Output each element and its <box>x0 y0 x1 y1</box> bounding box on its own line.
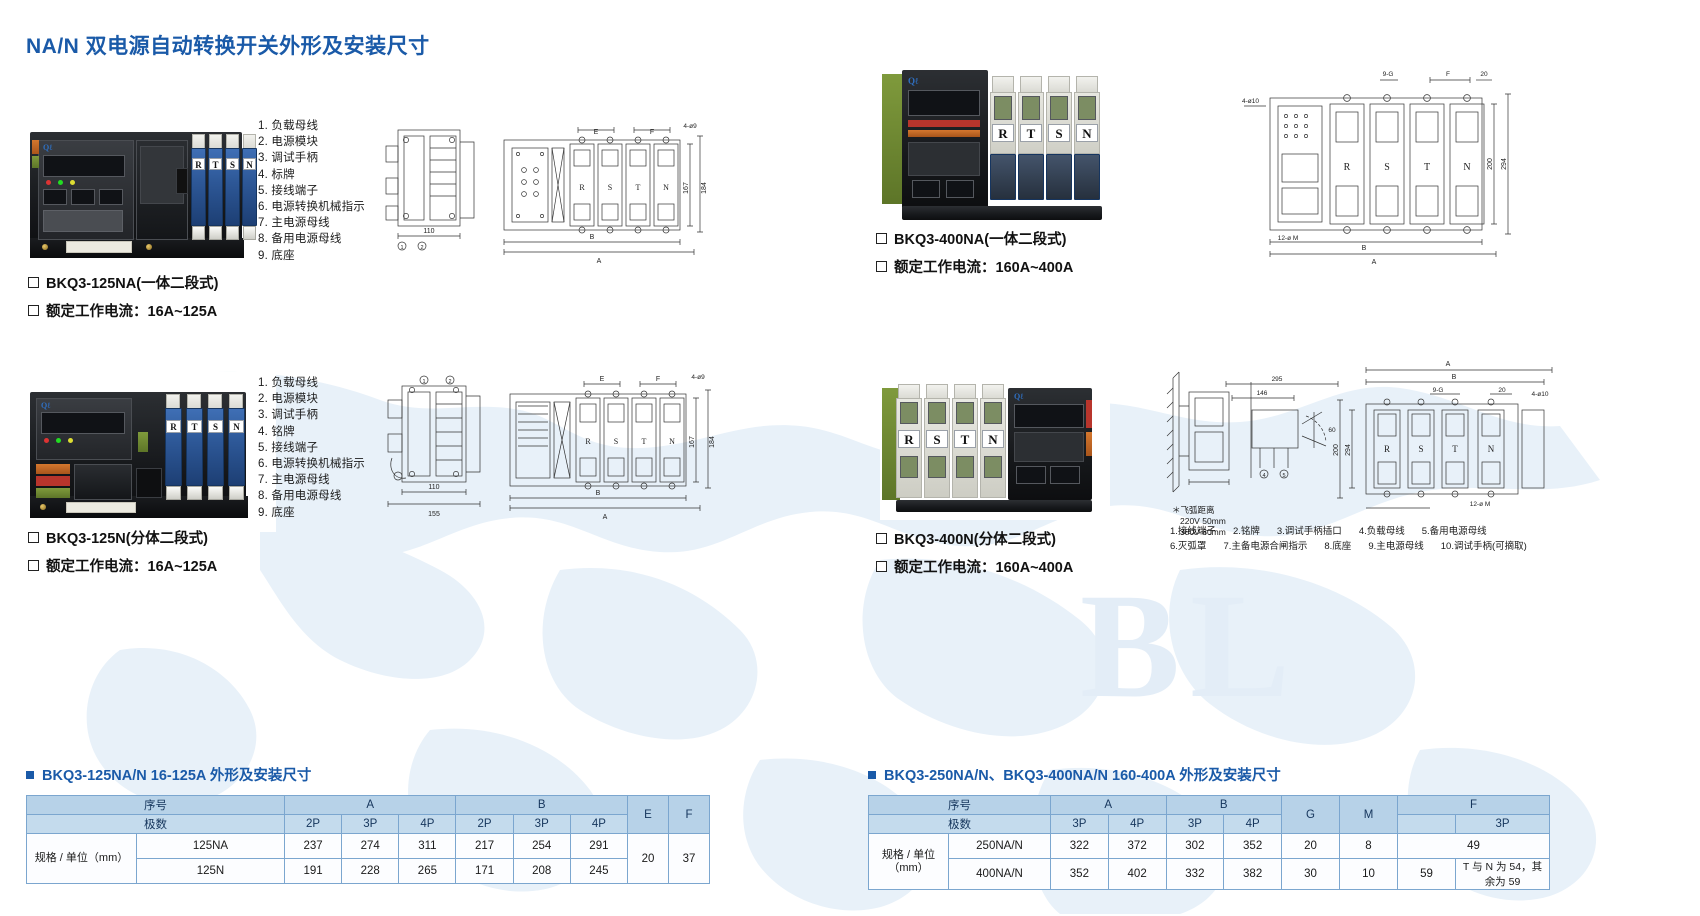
th-serial: 序号 <box>27 796 285 815</box>
cell-spec-label: 规格 / 单位 （mm） <box>869 834 949 890</box>
svg-text:4-ø9: 4-ø9 <box>683 123 697 130</box>
th-a-4p: 4P <box>1108 815 1166 834</box>
legend-item: 8. 备用电源母线 <box>258 231 365 247</box>
product-photo-bkq3-400na: Qℓ R T S N <box>880 60 1110 235</box>
cell-model: 125N <box>137 859 285 884</box>
legend-item: 3. 调试手柄 <box>258 407 365 423</box>
pole-label-t: T <box>1020 124 1042 142</box>
cell-f-4p: T 与 N 为 54，其余为 59 <box>1456 859 1550 890</box>
th-b-4p: 4P <box>570 815 627 834</box>
caption-current-text: 额定工作电流：16A~125A <box>46 555 217 576</box>
svg-text:2: 2 <box>448 379 451 385</box>
section-heading-table-250-400: BKQ3-250NA/N、BKQ3-400NA/N 160-400A 外形及安装… <box>868 764 1281 785</box>
th-f: F <box>669 796 710 834</box>
legend-item: 7. 主电源母线 <box>258 472 365 488</box>
th-f-4p: 3P <box>1456 815 1550 834</box>
cell-e-value: 20 <box>628 834 669 884</box>
caption-bkq3-125n: BKQ3-125N(分体二段式) 额定工作电流：16A~125A <box>28 527 217 583</box>
caption-model-text: BKQ3-125N(分体二段式) <box>46 527 208 548</box>
svg-text:294: 294 <box>1501 158 1508 170</box>
svg-text:20: 20 <box>1498 387 1506 394</box>
cell-f-merged: 49 <box>1398 834 1550 859</box>
th-g: G <box>1282 796 1340 834</box>
caption-bkq3-125na: BKQ3-125NA(一体二段式) 额定工作电流：16A~125A <box>28 272 218 328</box>
svg-text:295: 295 <box>1272 376 1283 383</box>
th-a: A <box>285 796 456 815</box>
legend-item: 9. 底座 <box>258 248 365 264</box>
checkbox-icon[interactable] <box>28 532 39 543</box>
th-poles: 极数 <box>27 815 285 834</box>
svg-text:9-G: 9-G <box>1383 71 1394 78</box>
svg-text:A: A <box>597 258 602 265</box>
svg-text:20: 20 <box>1480 71 1488 78</box>
svg-text:S: S <box>608 183 612 192</box>
svg-text:110: 110 <box>423 228 434 235</box>
pole-label-t: T <box>209 158 222 170</box>
pole-label-t: T <box>187 420 202 433</box>
svg-text:167: 167 <box>689 436 696 448</box>
svg-text:B: B <box>1452 374 1457 381</box>
pole-label-r: R <box>992 124 1014 142</box>
pole-label-t: T <box>954 430 976 448</box>
table-125na-n-dimensions: 序号 A B E F 极数 2P 3P 4P 2P 3P 4P 规格 / 单位（… <box>26 795 710 884</box>
checkbox-icon[interactable] <box>876 261 887 272</box>
svg-text:2: 2 <box>420 245 423 251</box>
th-b: B <box>1166 796 1282 815</box>
svg-text:1: 1 <box>422 379 425 385</box>
th-b-2p: 2P <box>456 815 513 834</box>
cell-a-4p: 311 <box>399 834 456 859</box>
cell-b-3p: 208 <box>513 859 570 884</box>
pole-label-r: R <box>898 430 920 448</box>
svg-text:9-G: 9-G <box>1433 387 1444 394</box>
caption-bkq3-400na: BKQ3-400NA(一体二段式) 额定工作电流：160A~400A <box>876 228 1073 284</box>
th-a-3p: 3P <box>342 815 399 834</box>
caption-current-text: 额定工作电流：160A~400A <box>894 256 1073 277</box>
caption-model-text: BKQ3-125NA(一体二段式) <box>46 272 218 293</box>
pole-label-s: S <box>926 430 948 448</box>
th-b: B <box>456 796 628 815</box>
svg-text:146: 146 <box>1257 390 1268 397</box>
caption-bkq3-400n: BKQ3-400N(分体二段式) 额定工作电流：160A~400A <box>876 528 1073 584</box>
legend-item: 10.调试手柄(可摘取) <box>1441 539 1527 554</box>
th-serial: 序号 <box>869 796 1051 815</box>
legend-item: 9. 底座 <box>258 505 365 521</box>
legend-item: 2.铭牌 <box>1233 524 1260 539</box>
legend-item: 4.负载母线 <box>1359 524 1405 539</box>
pole-label-n: N <box>982 430 1004 448</box>
svg-text:N: N <box>663 183 669 192</box>
drawing-bkq3-125na-front: E F B A 167 184 4-ø9 R S T N <box>494 118 710 268</box>
svg-text:N: N <box>669 437 675 446</box>
section-heading-text: BKQ3-250NA/N、BKQ3-400NA/N 160-400A 外形及安装… <box>884 764 1281 785</box>
checkbox-icon[interactable] <box>876 533 887 544</box>
legend-item: 6. 电源转换机械指示 <box>258 456 365 472</box>
svg-text:E: E <box>594 129 599 136</box>
legend-item: 1. 负载母线 <box>258 375 365 391</box>
drawing-bkq3-125n-side: 110 155 1 2 <box>378 372 508 522</box>
svg-text:S: S <box>1418 444 1423 454</box>
svg-text:5: 5 <box>1282 473 1285 479</box>
table-row: 规格 / 单位 （mm） 250NA/N 322 372 302 352 20 … <box>869 834 1550 859</box>
svg-text:200: 200 <box>1487 158 1494 170</box>
svg-text:R: R <box>1384 444 1390 454</box>
th-a-2p: 2P <box>285 815 342 834</box>
svg-text:F: F <box>656 376 660 383</box>
cell-model: 125NA <box>137 834 285 859</box>
pole-label-n: N <box>229 420 244 433</box>
th-b-3p: 3P <box>1166 815 1224 834</box>
cell-a-3p: 228 <box>342 859 399 884</box>
caption-model-line: BKQ3-400NA(一体二段式) <box>876 228 1073 249</box>
svg-text:110: 110 <box>428 484 439 491</box>
legend-item: 5. 接线端子 <box>258 183 365 199</box>
cell-b-4p: 382 <box>1224 859 1282 890</box>
svg-text:N: N <box>1488 444 1495 454</box>
section-heading-table-125: BKQ3-125NA/N 16-125A 外形及安装尺寸 <box>26 764 311 785</box>
cell-g: 30 <box>1282 859 1340 890</box>
svg-text:A: A <box>603 514 608 520</box>
legend-item: 6. 电源转换机械指示 <box>258 199 365 215</box>
svg-text:F: F <box>650 129 654 136</box>
th-f: F <box>1398 796 1550 815</box>
drawing-bkq3-400n-front: A B 9-G 20 294 200 4-ø10 12-ø M R S T N <box>1330 352 1560 527</box>
svg-text:S: S <box>1384 162 1390 173</box>
svg-text:R: R <box>579 183 585 192</box>
legend-item: 5. 接线端子 <box>258 440 365 456</box>
svg-text:T: T <box>642 437 647 446</box>
pole-label-s: S <box>1048 124 1070 142</box>
cell-b-3p: 302 <box>1166 834 1224 859</box>
caption-model-line: BKQ3-400N(分体二段式) <box>876 528 1073 549</box>
cell-b-4p: 291 <box>570 834 627 859</box>
drawing-bkq3-125n-front: E F B A 167 184 4-ø9 R S T N <box>500 370 716 520</box>
legend-item: 7.主备电源合闸指示 <box>1223 539 1307 554</box>
cell-a-4p: 402 <box>1108 859 1166 890</box>
svg-text:A: A <box>1446 361 1451 368</box>
svg-text:167: 167 <box>683 182 690 194</box>
svg-text:F: F <box>1446 71 1450 78</box>
legend-item: 1.接线端子 <box>1170 524 1216 539</box>
legend-item: 7. 主电源母线 <box>258 215 365 231</box>
cell-a-2p: 191 <box>285 859 342 884</box>
legend-item: 2. 电源模块 <box>258 134 365 150</box>
product-photo-bkq3-125na: Qℓ R T S N <box>26 110 276 270</box>
caption-current-text: 额定工作电流：16A~125A <box>46 300 217 321</box>
pole-label-n: N <box>1076 124 1098 142</box>
table-250-400-dimensions: 序号 A B G M F 极数 3P 4P 3P 4P 3P 规格 / 单位 <box>868 795 1550 890</box>
spec-label-line2: （mm） <box>871 862 946 875</box>
pole-label-r: R <box>166 420 181 433</box>
caption-model-line: BKQ3-125N(分体二段式) <box>28 527 217 548</box>
legend-item: 2. 电源模块 <box>258 391 365 407</box>
caption-current-line: 额定工作电流：16A~125A <box>28 300 218 321</box>
cell-b-2p: 171 <box>456 859 513 884</box>
caption-current-line: 额定工作电流：16A~125A <box>28 555 217 576</box>
cell-a-3p: 274 <box>342 834 399 859</box>
cell-a-4p: 265 <box>399 859 456 884</box>
svg-text:4-ø9: 4-ø9 <box>691 374 705 381</box>
cell-g: 20 <box>1282 834 1340 859</box>
svg-text:200: 200 <box>1333 444 1340 456</box>
pole-label-n: N <box>243 158 256 170</box>
cell-model: 400NA/N <box>949 859 1051 890</box>
svg-text:B: B <box>590 234 595 241</box>
legend-item: 8. 备用电源母线 <box>258 488 365 504</box>
legend-item: 4. 铭牌 <box>258 424 365 440</box>
drawing-bkq3-400na: 4-ø10 F 20 9-G B A 200 294 12-ø M R S T … <box>1230 62 1550 282</box>
cell-b-3p: 332 <box>1166 859 1224 890</box>
th-a: A <box>1051 796 1167 815</box>
pole-label-r: R <box>192 158 205 170</box>
cell-a-3p: 322 <box>1051 834 1109 859</box>
cell-f-value: 37 <box>669 834 710 884</box>
drawing-bkq3-125na-side: 110 1 2 <box>378 118 498 258</box>
svg-text:B: B <box>596 490 601 497</box>
product-photo-bkq3-125n: Qℓ R T S N <box>26 372 276 532</box>
legend-bkq3-125n: 1. 负载母线 2. 电源模块 3. 调试手柄 4. 铭牌 5. 接线端子 6.… <box>258 375 365 521</box>
legend-item: 6.灭弧罩 <box>1170 539 1206 554</box>
section-heading-text: BKQ3-125NA/N 16-125A 外形及安装尺寸 <box>42 764 311 785</box>
watermark-letters: BL <box>1080 560 1300 732</box>
svg-text:184: 184 <box>701 182 708 194</box>
cell-model: 250NA/N <box>949 834 1051 859</box>
svg-text:155: 155 <box>428 511 440 518</box>
pole-label-s: S <box>208 420 223 433</box>
svg-text:R: R <box>1344 162 1351 173</box>
table-row: 400NA/N 352 402 332 382 30 10 59 T 与 N 为… <box>869 859 1550 890</box>
legend-item: 3. 调试手柄 <box>258 150 365 166</box>
cell-b-4p: 352 <box>1224 834 1282 859</box>
svg-text:4: 4 <box>1262 473 1265 479</box>
arc-note-title: ＊飞弧距离 <box>1172 505 1226 516</box>
caption-current-text: 额定工作电流：160A~400A <box>894 556 1073 577</box>
cell-a-3p: 352 <box>1051 859 1109 890</box>
cell-a-2p: 237 <box>285 834 342 859</box>
svg-text:1: 1 <box>400 245 403 251</box>
legend-item: 5.备用电源母线 <box>1422 524 1487 539</box>
th-b-4p: 4P <box>1224 815 1282 834</box>
th-b-3p: 3P <box>513 815 570 834</box>
checkbox-icon[interactable] <box>876 233 887 244</box>
svg-text:4-ø10: 4-ø10 <box>1532 391 1549 398</box>
cell-b-4p: 245 <box>570 859 627 884</box>
legend-bkq3-125na: 1. 负载母线 2. 电源模块 3. 调试手柄 4. 标牌 5. 接线端子 6.… <box>258 118 365 264</box>
cell-a-4p: 372 <box>1108 834 1166 859</box>
cell-m: 8 <box>1340 834 1398 859</box>
svg-text:N: N <box>1463 162 1470 173</box>
th-poles: 极数 <box>869 815 1051 834</box>
svg-text:12-ø M: 12-ø M <box>1470 501 1491 508</box>
legend-item: 1. 负载母线 <box>258 118 365 134</box>
th-a-3p: 3P <box>1051 815 1109 834</box>
caption-model-text: BKQ3-400NA(一体二段式) <box>894 228 1066 249</box>
svg-text:R: R <box>585 437 591 446</box>
th-m: M <box>1340 796 1398 834</box>
cell-b-3p: 254 <box>513 834 570 859</box>
checkbox-icon[interactable] <box>28 305 39 316</box>
caption-current-line: 额定工作电流：160A~400A <box>876 256 1073 277</box>
spec-label-line1: 规格 / 单位 <box>871 849 946 862</box>
table-row: 规格 / 单位（mm） 125NA 237 274 311 217 254 29… <box>27 834 710 859</box>
square-bullet-icon <box>868 771 876 779</box>
product-photo-bkq3-400n: R S T N Qℓ <box>880 370 1110 520</box>
th-a-4p: 4P <box>399 815 456 834</box>
legend-bkq3-400n-inline: 1.接线端子 2.铭牌 3.调试手柄插口 4.负载母线 5.备用电源母线 6.灭… <box>1170 524 1570 554</box>
cell-f-3p: 59 <box>1398 859 1456 890</box>
cell-spec-label: 规格 / 单位（mm） <box>27 834 137 884</box>
th-f-3p <box>1398 815 1456 834</box>
th-e: E <box>628 796 669 834</box>
cell-b-2p: 217 <box>456 834 513 859</box>
svg-text:T: T <box>636 183 641 192</box>
svg-text:A: A <box>1372 259 1377 266</box>
legend-item: 9.主电源母线 <box>1368 539 1423 554</box>
square-bullet-icon <box>26 771 34 779</box>
caption-current-line: 额定工作电流：160A~400A <box>876 556 1073 577</box>
svg-text:184: 184 <box>709 436 716 448</box>
page-title: NA/N 双电源自动转换开关外形及安装尺寸 <box>26 30 430 60</box>
svg-text:4-ø10: 4-ø10 <box>1242 98 1259 105</box>
checkbox-icon[interactable] <box>28 277 39 288</box>
svg-text:S: S <box>614 437 618 446</box>
catalog-page: BL NA/N 双电源自动转换开关外形及安装尺寸 Qℓ <box>0 0 1700 916</box>
svg-text:294: 294 <box>1345 444 1352 456</box>
svg-text:T: T <box>1452 444 1458 454</box>
caption-model-line: BKQ3-125NA(一体二段式) <box>28 272 218 293</box>
legend-item: 8.底座 <box>1324 539 1351 554</box>
legend-item: 4. 标牌 <box>258 167 365 183</box>
svg-text:B: B <box>1362 245 1367 252</box>
cell-m: 10 <box>1340 859 1398 890</box>
caption-model-text: BKQ3-400N(分体二段式) <box>894 528 1056 549</box>
legend-item: 3.调试手柄插口 <box>1277 524 1342 539</box>
checkbox-icon[interactable] <box>28 560 39 571</box>
pole-label-s: S <box>226 158 239 170</box>
svg-text:12-ø M: 12-ø M <box>1278 235 1299 242</box>
svg-text:E: E <box>600 376 605 383</box>
checkbox-icon[interactable] <box>876 561 887 572</box>
svg-text:T: T <box>1424 162 1430 173</box>
